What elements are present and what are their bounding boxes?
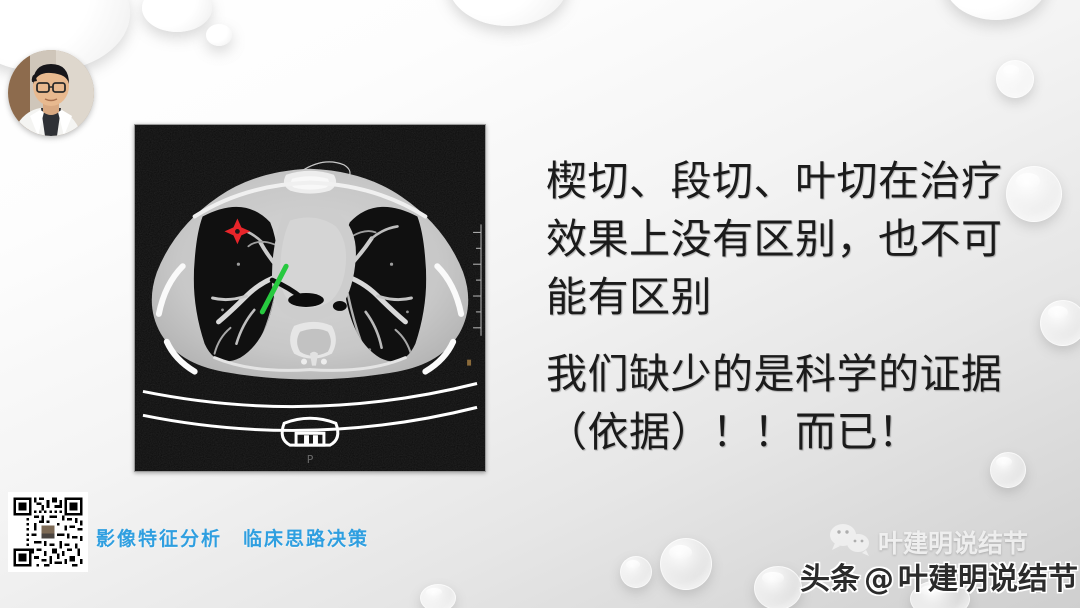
bubble-decoration-bottom-3 — [754, 566, 802, 608]
slide-paragraph-2: 我们缺少的是科学的证据（依据）！！而已！ — [546, 345, 1016, 461]
bubble-decoration-topleft-3 — [206, 24, 232, 46]
bubble-decoration-topleft-2 — [142, 0, 212, 32]
bubble-decoration-topright-1 — [944, 0, 1048, 20]
presenter-avatar — [8, 50, 94, 136]
toutiao-brand-label: 头条 — [800, 554, 860, 598]
ct-scan-image: P — [134, 124, 486, 472]
slide-paragraph-1: 楔切、段切、叶切在治疗效果上没有区别，也不可能有区别 — [546, 152, 1016, 327]
bubble-decoration-right-2 — [1040, 300, 1080, 346]
slide-text-block: 楔切、段切、叶切在治疗效果上没有区别，也不可能有区别 我们缺少的是科学的证据（依… — [546, 152, 1016, 461]
qr-code[interactable] — [8, 492, 88, 572]
at-sign: @ — [864, 562, 894, 597]
bubble-decoration-bottom-5 — [420, 584, 456, 608]
slide-canvas: P 楔切、段切、叶切在治疗效果上没有区别，也不可能有区别 我们缺少的是科学的证据… — [0, 0, 1080, 608]
bubble-decoration-bottom-2 — [660, 538, 712, 590]
bubble-decoration-topright-2 — [996, 60, 1034, 98]
toutiao-watermark: 头条 @ 叶建明说结节 — [800, 554, 1078, 598]
bubble-decoration-top-center — [448, 0, 568, 26]
bubble-decoration-bottom-1 — [620, 556, 652, 588]
tagline-text: 影像特征分析 临床思路决策 — [96, 524, 369, 551]
svg-text:P: P — [307, 453, 314, 466]
toutiao-account-name: 叶建明说结节 — [898, 554, 1078, 598]
